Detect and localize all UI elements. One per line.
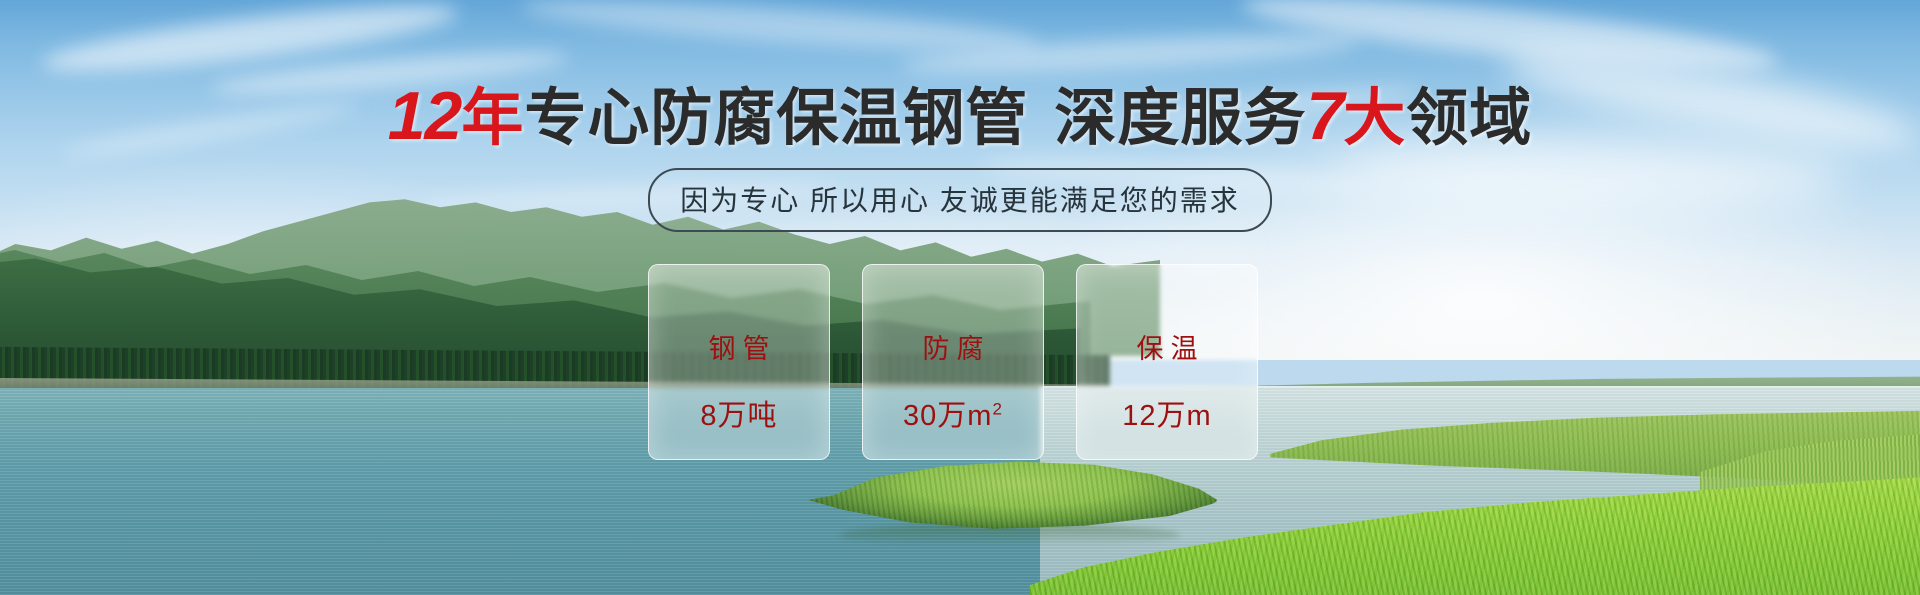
stat-card-value: 8万吨 bbox=[700, 392, 777, 434]
banner-headline: 12年专心防腐保温钢管深度服务7大领域 bbox=[0, 82, 1920, 150]
banner-subtitle: 因为专心 所以用心 友诚更能满足您的需求 bbox=[648, 168, 1272, 232]
stat-card-value: 30万m2 bbox=[903, 392, 1003, 434]
stat-card-steel-pipe[interactable]: 钢管 8万吨 bbox=[648, 264, 830, 460]
headline-main-segment: 专心防腐保温钢管 bbox=[524, 84, 1028, 153]
stat-card-value-text: 8万吨 bbox=[700, 400, 777, 432]
stat-card-title: 钢管 bbox=[702, 327, 777, 366]
hero-banner: 12年专心防腐保温钢管深度服务7大领域 因为专心 所以用心 友诚更能满足您的需求… bbox=[0, 0, 1920, 595]
headline-tail-segment: 领域 bbox=[1406, 84, 1532, 153]
headline-years-number: 12 bbox=[388, 78, 462, 154]
stat-card-title: 防腐 bbox=[916, 327, 991, 366]
stat-card-group: 钢管 8万吨 防腐 30万m2 保温 12万m bbox=[648, 264, 1268, 460]
stat-card-value-text: 12万m bbox=[1122, 400, 1211, 432]
headline-years-unit: 年 bbox=[461, 84, 524, 153]
stat-card-insulation[interactable]: 保温 12万m bbox=[1076, 264, 1258, 460]
stat-card-anticorrosion[interactable]: 防腐 30万m2 bbox=[862, 264, 1044, 460]
headline-highlight-unit: 大 bbox=[1343, 84, 1406, 153]
banner-subtitle-wrapper: 因为专心 所以用心 友诚更能满足您的需求 bbox=[0, 168, 1920, 232]
headline-highlight-number: 7 bbox=[1306, 78, 1343, 154]
stat-card-value-text: 30万m bbox=[903, 400, 992, 432]
stat-card-value-superscript: 2 bbox=[992, 399, 1002, 418]
stat-card-value: 12万m bbox=[1122, 392, 1211, 434]
headline-service-segment: 深度服务 bbox=[1054, 84, 1306, 153]
stat-card-title: 保温 bbox=[1130, 327, 1205, 366]
